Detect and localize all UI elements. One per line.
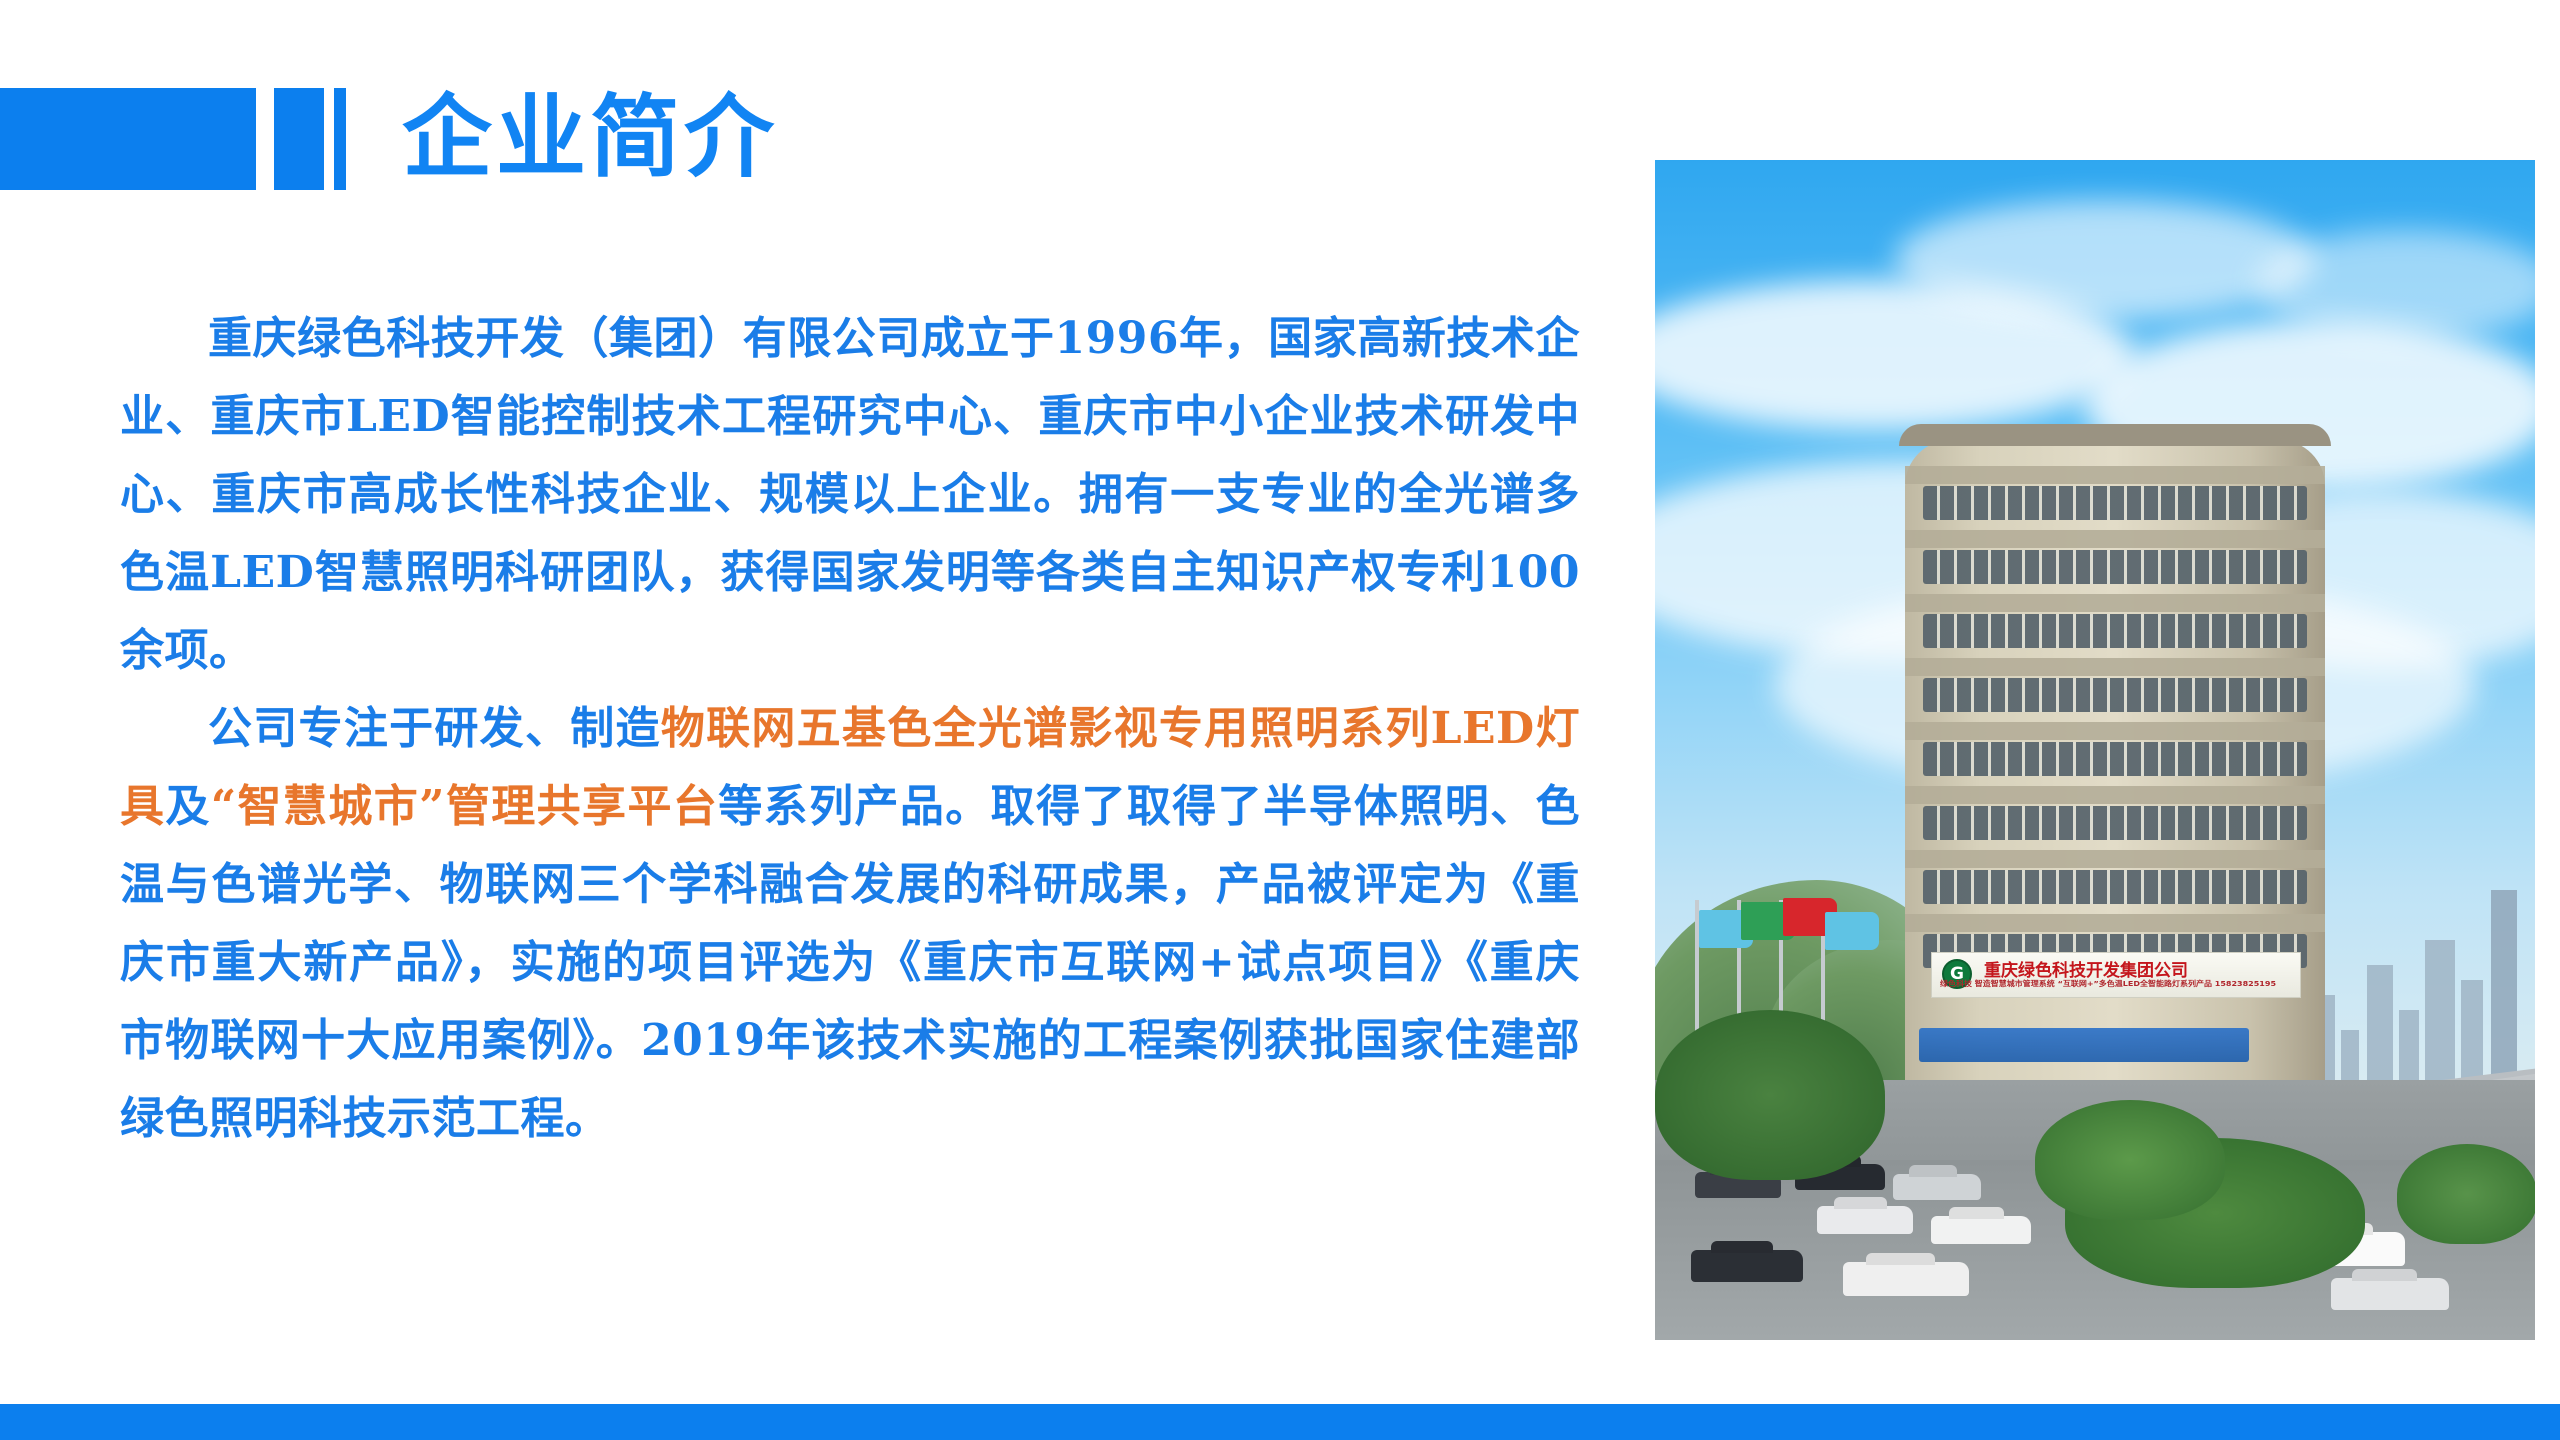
text-run: 重庆绿色科技开发（集团）有限公司成立于1996年，国家高新技术企业、重庆市LED… — [120, 313, 1580, 676]
parked-car — [2331, 1278, 2449, 1310]
shrub — [2397, 1144, 2535, 1244]
parked-car — [1691, 1250, 1803, 1282]
office-building-photo: 重庆绿色科技开发集团公司 绿色科技 智造智慧城市管理系统 “互联网+”多色温LE… — [1655, 160, 2535, 1340]
text-run: 等系列产品。取得了取得了半导体照明、色温与色谱光学、物联网三个学科融合发展的科研… — [120, 781, 1580, 1144]
company-profile-text: 重庆绿色科技开发（集团）有限公司成立于1996年，国家高新技术企业、重庆市LED… — [120, 300, 1580, 1158]
flag-cloth — [1825, 912, 1879, 950]
text-run: 及 — [165, 781, 210, 832]
banner-main-text: 重庆绿色科技开发集团公司 — [1984, 956, 2188, 981]
tree — [1655, 1010, 1885, 1180]
parked-car — [1931, 1216, 2031, 1244]
building: 重庆绿色科技开发集团公司 绿色科技 智造智慧城市管理系统 “互联网+”多色温LE… — [1905, 440, 2325, 1090]
header-accent-block — [0, 88, 256, 190]
header-accent-bar-wide — [274, 88, 324, 190]
parked-car — [1817, 1206, 1913, 1234]
banner-sub-text: 绿色科技 智造智慧城市管理系统 “互联网+”多色温LED全智能路灯系列产品 15… — [1940, 979, 2276, 989]
slide-root: 企业简介 重庆绿色科技开发（集团）有限公司成立于1996年，国家高新技术企业、重… — [0, 0, 2560, 1440]
paragraph-2: 公司专注于研发、制造物联网五基色全光谱影视专用照明系列LED灯具及“智慧城市”管… — [120, 690, 1580, 1158]
cloud-shape — [1895, 200, 2315, 320]
text-run: 公司专注于研发、制造 — [208, 703, 661, 754]
parked-car — [1843, 1262, 1969, 1296]
paragraph-1: 重庆绿色科技开发（集团）有限公司成立于1996年，国家高新技术企业、重庆市LED… — [120, 300, 1580, 690]
page-title: 企业简介 — [402, 78, 778, 198]
building-banner-sign: 重庆绿色科技开发集团公司 绿色科技 智造智慧城市管理系统 “互联网+”多色温LE… — [1931, 952, 2301, 998]
building-facade: 重庆绿色科技开发集团公司 绿色科技 智造智慧城市管理系统 “互联网+”多色温LE… — [1905, 440, 2325, 1090]
building-roof — [1899, 424, 2331, 446]
slide-footer-bar — [0, 1404, 2560, 1440]
parked-car — [1893, 1174, 1981, 1200]
header-accent-bar-thin — [334, 88, 346, 190]
text-run-highlight: “智慧城市”管理共享平台 — [211, 781, 718, 832]
shrub — [2035, 1100, 2225, 1220]
ground-floor-signage — [1919, 1028, 2249, 1062]
